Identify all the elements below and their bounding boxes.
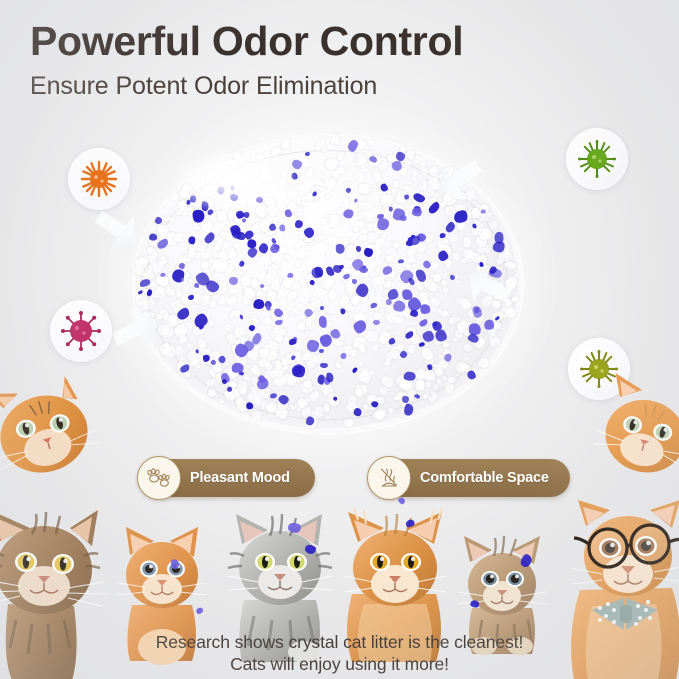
badge-label: Comfortable Space	[411, 470, 565, 486]
caption-line-1: Research shows crystal cat litter is the…	[0, 631, 679, 653]
page-title: Powerful Odor Control	[30, 20, 463, 63]
caption-line-2: Cats will enjoy using it more!	[0, 653, 679, 675]
bottom-caption: Research shows crystal cat litter is the…	[0, 631, 679, 675]
page-subtitle: Ensure Potent Odor Elimination	[30, 72, 377, 101]
orange-virus-icon	[78, 158, 120, 200]
pink-virus-icon	[59, 309, 103, 353]
bowl-highlight	[176, 152, 296, 210]
germ-bubble-orange	[68, 148, 130, 210]
green-virus-icon	[575, 137, 619, 181]
germ-bubble-green	[566, 128, 628, 190]
badge-pleasant-mood[interactable]: Pleasant Mood	[140, 459, 315, 497]
cat-left-peek	[0, 364, 117, 505]
no-odor-icon	[367, 456, 411, 500]
germ-bubble-pink	[50, 300, 112, 362]
badge-label: Pleasant Mood	[181, 470, 306, 486]
paw-prints-icon	[137, 456, 181, 500]
product-infographic: Powerful Odor Control Ensure Potent Odor…	[0, 0, 679, 679]
badge-comfortable-space[interactable]: Comfortable Space	[370, 459, 570, 497]
